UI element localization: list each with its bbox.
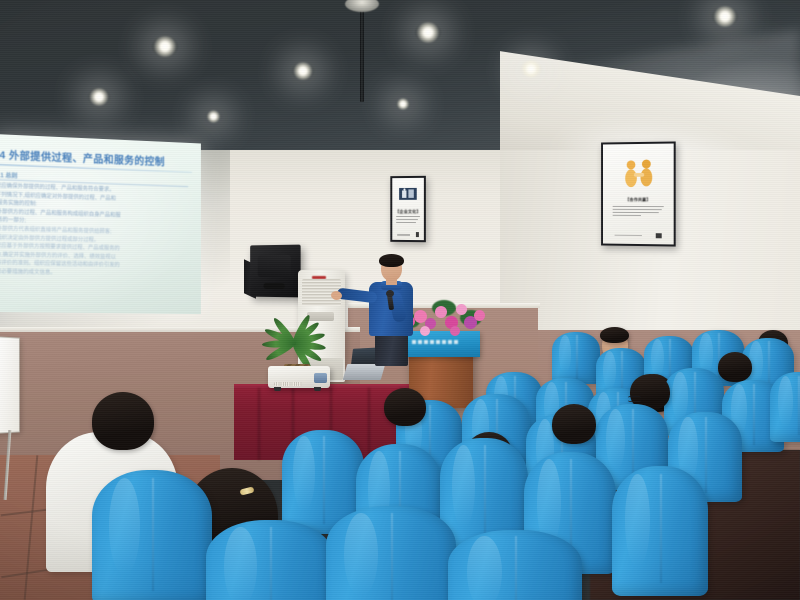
recessed-downlight: [415, 22, 441, 43]
recessed-downlight: [88, 88, 110, 106]
recessed-downlight: [396, 98, 410, 110]
attendee-head: [718, 352, 752, 382]
recessed-downlight: [206, 110, 221, 123]
auditorium-seat[interactable]: [92, 470, 212, 600]
poster-left-caption: 【企业文化】: [395, 209, 420, 215]
seminar-room-photo: 8.4 外部提供过程、产品和服务的控制 8.4.1 总则 组织应确保外部提供的过…: [0, 0, 800, 600]
attendee-hair: [600, 327, 629, 343]
poster-left-frame: 【企业文化】: [390, 176, 426, 242]
laptop-base: [343, 364, 386, 380]
projector-vent: [274, 382, 302, 386]
poster-right-caption: 【合作共赢】: [625, 197, 650, 203]
ceiling-hanging-rod: [360, 4, 364, 102]
projector-lens: [314, 373, 327, 383]
presenter-legs: [375, 334, 408, 366]
eyeglasses: [628, 396, 641, 402]
auditorium-seat[interactable]: [448, 530, 582, 600]
recessed-downlight: [152, 36, 178, 57]
attendee-head: [552, 404, 596, 444]
presenter-hair: [379, 254, 404, 267]
auditorium-seat[interactable]: [206, 520, 334, 600]
recessed-downlight: [520, 60, 542, 78]
poster-right-footer: [615, 233, 662, 239]
poster-right-frame: 【合作共赢】: [601, 141, 676, 246]
presenter: [355, 256, 425, 366]
poster-left-text-lines: [397, 216, 420, 225]
poster-left-art-icon: [398, 182, 418, 207]
attendee-head: [92, 392, 154, 450]
poster-right-art-icon: [616, 152, 660, 192]
auditorium-seat[interactable]: [326, 506, 456, 600]
poster-left-footer: [398, 232, 419, 237]
recessed-downlight: [292, 62, 314, 80]
microphone-head: [386, 290, 394, 297]
attendee-head: [384, 388, 426, 426]
auditorium-seat[interactable]: [552, 332, 600, 384]
poster-right-text-lines: [613, 206, 664, 218]
auditorium-seat[interactable]: [770, 372, 800, 442]
auditorium-seat[interactable]: [612, 466, 708, 596]
speaker-port: [263, 283, 284, 289]
recessed-downlight: [712, 6, 738, 27]
whiteboard: [0, 336, 20, 434]
slide-body: 组织应确保外部提供的过程、产品和服务符合要求。 在下列情况下,组织应确定对外部提…: [0, 182, 190, 280]
projector: [268, 366, 330, 388]
wall-speaker: [250, 245, 300, 298]
projection-screen: 8.4 外部提供过程、产品和服务的控制 8.4.1 总则 组织应确保外部提供的过…: [0, 134, 201, 314]
speaker-cone: [258, 255, 291, 277]
